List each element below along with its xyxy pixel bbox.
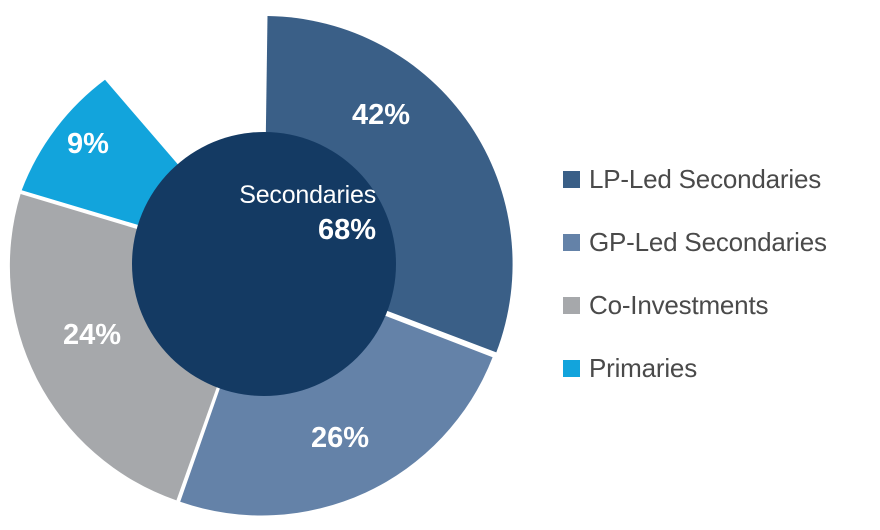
legend-swatch-icon-lp-led-secondaries <box>563 171 580 188</box>
slice-label-lp-led-secondaries: 42% <box>352 101 410 130</box>
pie-chart-figure: 42% 26% 24% 9% Secondaries 68% LP-Led Se… <box>0 0 880 530</box>
legend-label-co-investments: Co-Investments <box>589 290 768 321</box>
inner-disc-category-name: Secondaries <box>196 182 376 209</box>
chart-legend: LP-Led Secondaries GP-Led Secondaries Co… <box>563 148 873 400</box>
legend-item-gp-led-secondaries[interactable]: GP-Led Secondaries <box>563 211 873 274</box>
inner-disc-value: 68% <box>196 215 376 246</box>
inner-disc <box>132 132 396 396</box>
chart-plot-area: 42% 26% 24% 9% Secondaries 68% <box>0 0 540 530</box>
legend-item-lp-led-secondaries[interactable]: LP-Led Secondaries <box>563 148 873 211</box>
legend-label-lp-led-secondaries: LP-Led Secondaries <box>589 164 821 195</box>
nested-pie-svg <box>0 0 540 530</box>
legend-swatch-icon-co-investments <box>563 297 580 314</box>
slice-label-gp-led-secondaries: 26% <box>311 424 369 453</box>
legend-label-gp-led-secondaries: GP-Led Secondaries <box>589 227 827 258</box>
slice-label-primaries: 9% <box>67 130 109 159</box>
legend-swatch-icon-primaries <box>563 360 580 377</box>
legend-item-primaries[interactable]: Primaries <box>563 337 873 400</box>
slice-label-co-investments: 24% <box>63 321 121 350</box>
legend-item-co-investments[interactable]: Co-Investments <box>563 274 873 337</box>
legend-swatch-icon-gp-led-secondaries <box>563 234 580 251</box>
slice-secondaries-inner[interactable] <box>132 132 396 396</box>
inner-disc-label: Secondaries 68% <box>196 182 376 246</box>
legend-label-primaries: Primaries <box>589 353 697 384</box>
